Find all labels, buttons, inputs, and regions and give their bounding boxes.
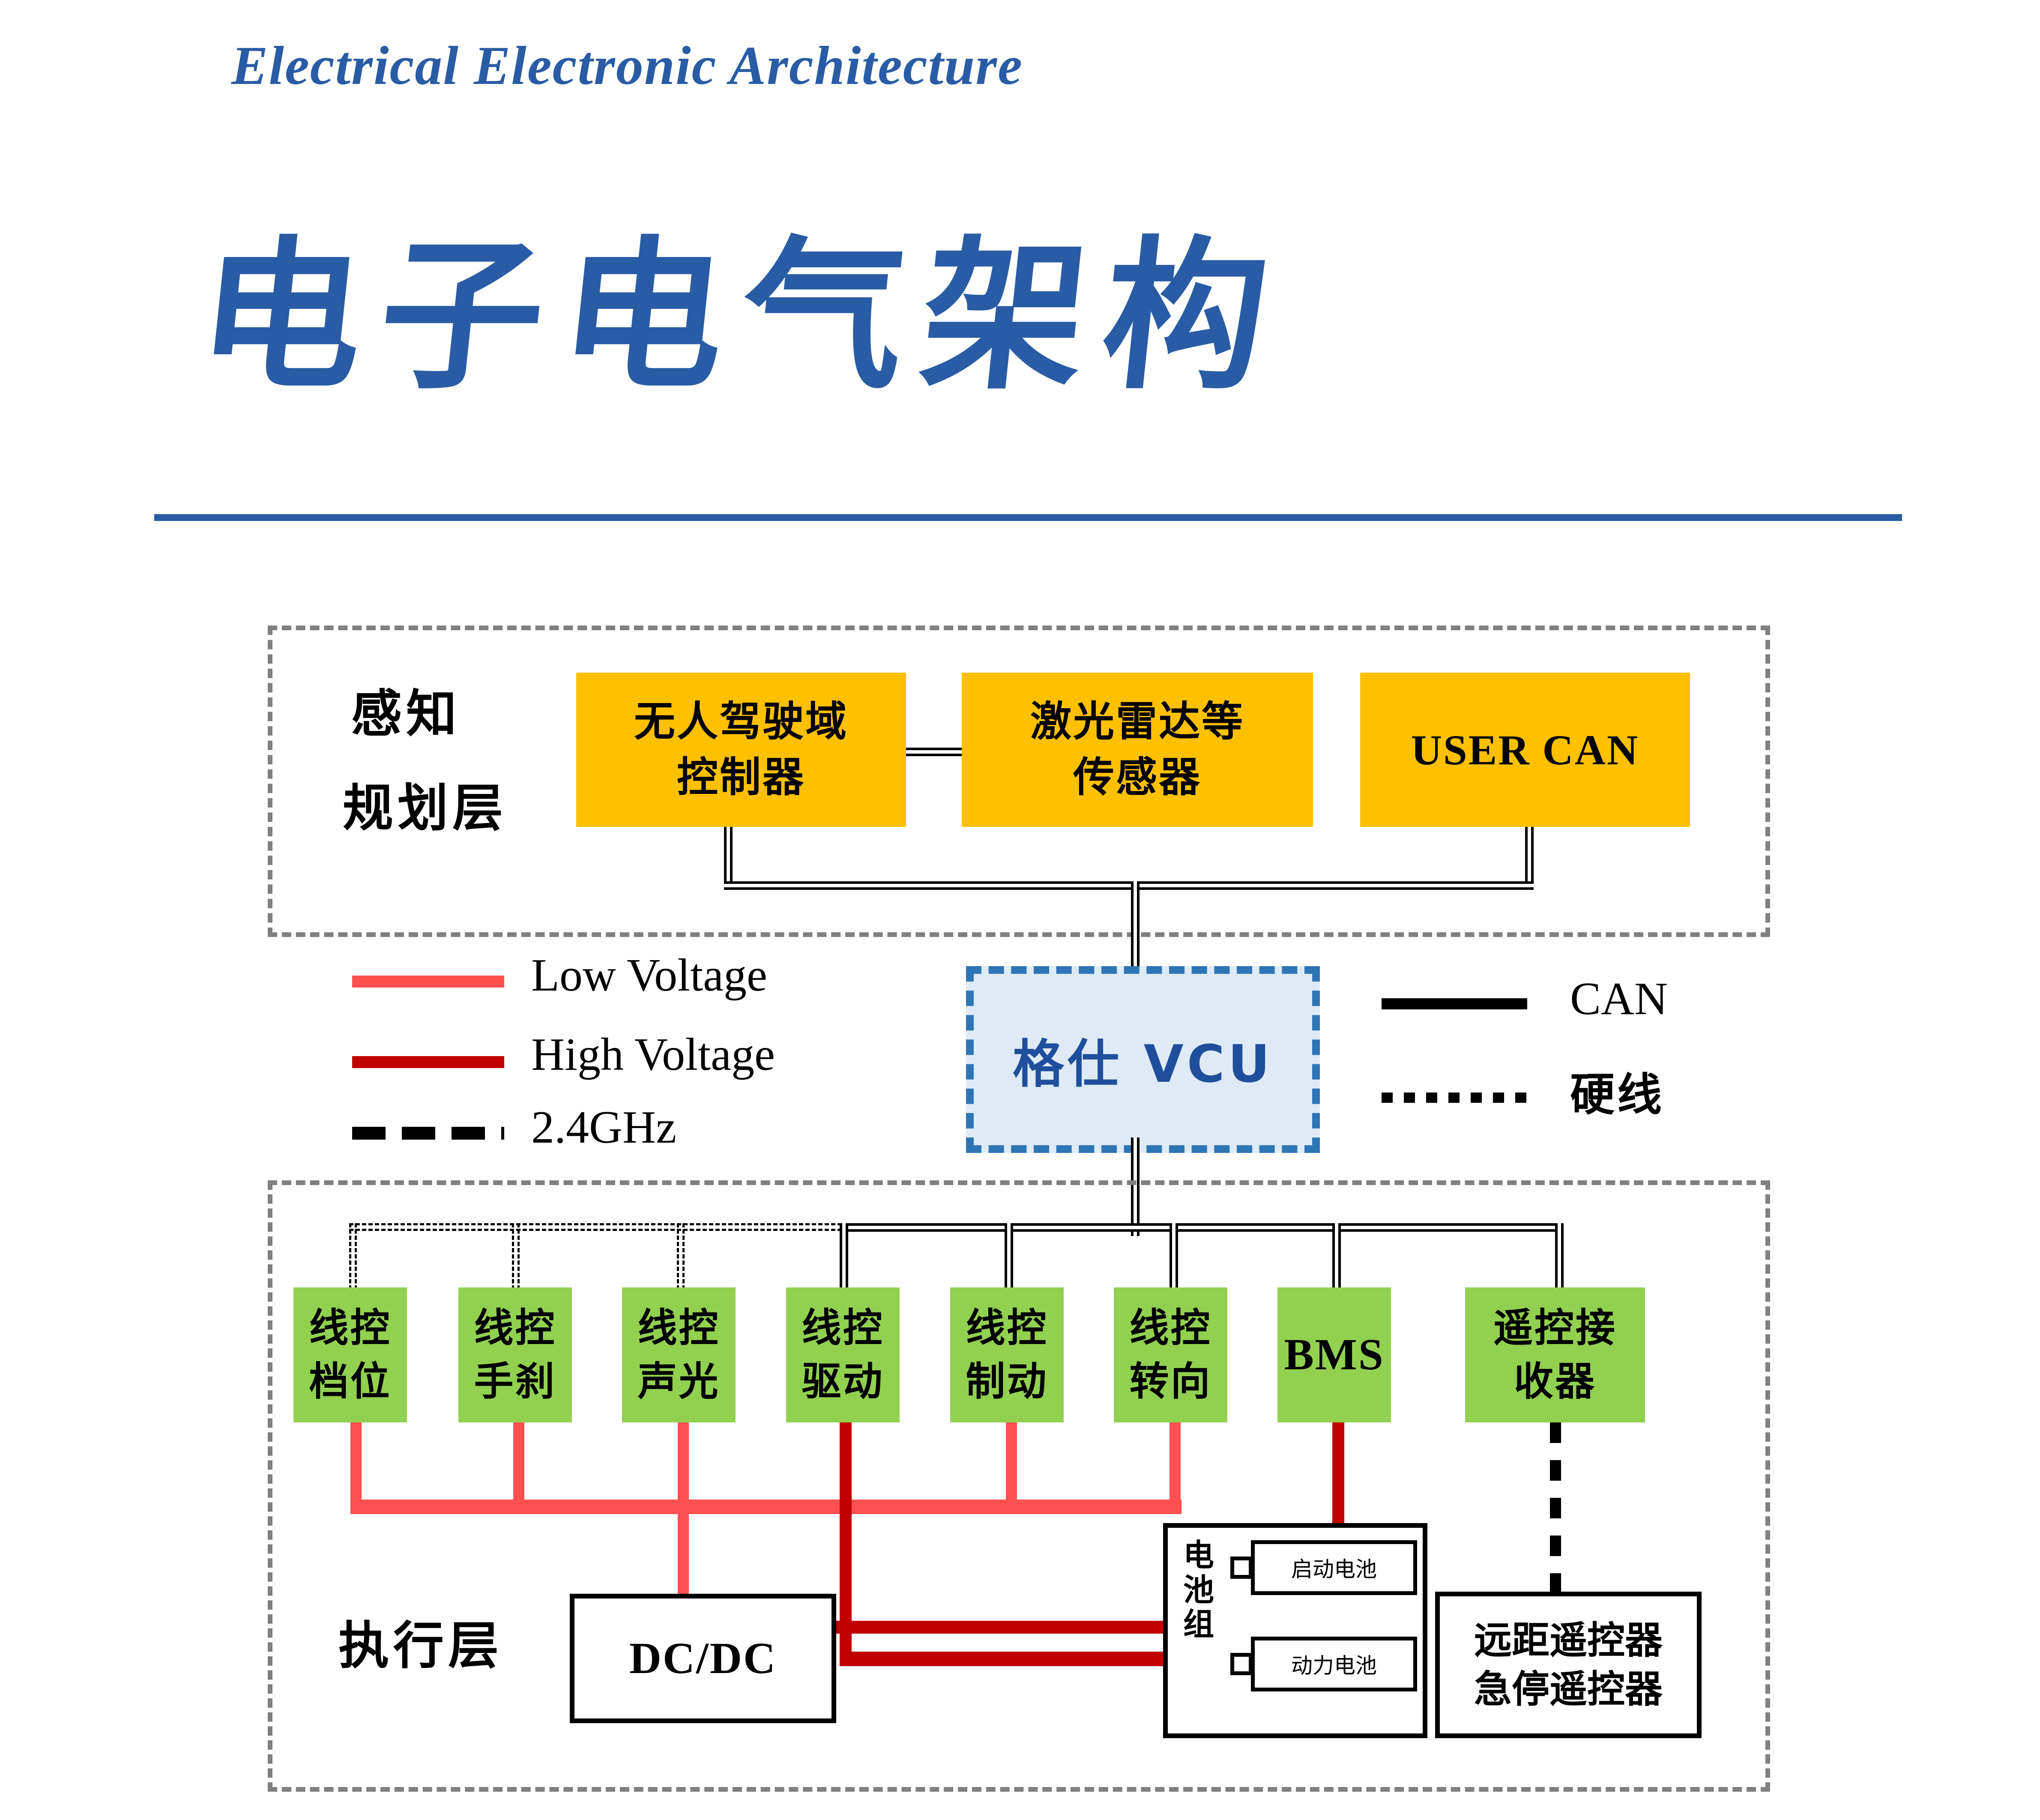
- lv-feed-dcdc: [678, 1500, 689, 1596]
- node-label-line2: 急停遥控器: [1474, 1665, 1663, 1714]
- node-label: DC/DC: [629, 1629, 777, 1687]
- lv-drop-parking-brake: [513, 1422, 524, 1510]
- perception-layer-label-line2: 规划层: [343, 767, 507, 840]
- can-drop-user-can: [1525, 827, 1534, 887]
- node-label-line2: 手刹: [474, 1355, 556, 1408]
- node-autonomous-driving-domain-controller[interactable]: 无人驾驶域 控制器: [576, 673, 906, 827]
- can-drop-bms: [1332, 1223, 1341, 1290]
- node-vcu[interactable]: 格仕 VCU: [966, 966, 1320, 1153]
- node-label-line2: 驱动: [802, 1355, 884, 1408]
- battery-cell-label: 启动电池: [1291, 1552, 1377, 1583]
- node-label-line1: 线控: [309, 1302, 391, 1355]
- node-label-line2: 声光: [637, 1355, 720, 1408]
- execution-layer-label: 执行层: [338, 1604, 503, 1678]
- rf-link-remote: [1550, 1422, 1561, 1592]
- node-label-line2: 转向: [1129, 1355, 1211, 1408]
- battery-connector-icon: [1230, 1557, 1253, 1579]
- can-drop-controller: [724, 827, 733, 887]
- node-label-line1: 线控: [637, 1302, 720, 1355]
- battery-cell-starter[interactable]: 启动电池: [1251, 1540, 1417, 1595]
- legend-label-high-voltage: High Voltage: [531, 1028, 775, 1081]
- node-label-line1: 线控: [474, 1302, 556, 1355]
- hardwire-drop-parking-brake: [512, 1223, 520, 1290]
- node-wire-control-drive[interactable]: 线控 驱动: [786, 1287, 900, 1422]
- node-label-line1: 线控: [802, 1302, 884, 1355]
- can-drop-steering: [1170, 1223, 1178, 1290]
- node-user-can[interactable]: USER CAN: [1360, 673, 1690, 827]
- english-title: Electrical Electronic Architecture: [231, 34, 1023, 97]
- hv-bus-drive-to-battery: [840, 1652, 1170, 1666]
- node-label-line2: 制动: [966, 1355, 1048, 1408]
- node-wire-control-light-sound[interactable]: 线控 声光: [622, 1287, 736, 1422]
- legend-swatch-low-voltage: [352, 976, 504, 988]
- can-trunk-to-vcu: [1131, 881, 1140, 967]
- node-wire-control-parking-brake[interactable]: 线控 手刹: [458, 1287, 572, 1422]
- can-drop-remote-receiver: [1555, 1223, 1564, 1290]
- battery-cell-label: 动力电池: [1291, 1649, 1377, 1679]
- lv-drop-brake: [1006, 1422, 1017, 1510]
- node-label-line1: 激光雷达等: [1030, 694, 1244, 750]
- node-dcdc[interactable]: DC/DC: [570, 1594, 836, 1723]
- battery-cell-traction[interactable]: 动力电池: [1251, 1637, 1417, 1691]
- page-title: 电子电气架构: [189, 184, 1298, 420]
- node-wire-control-steering[interactable]: 线控 转向: [1114, 1287, 1227, 1422]
- node-label-line1: 线控: [1129, 1302, 1211, 1355]
- can-bus-actuators: [840, 1223, 1564, 1232]
- legend-swatch-hardwire: [1382, 1093, 1527, 1103]
- legend-swatch-24ghz: [352, 1127, 504, 1140]
- legend-label-hardwire: 硬线: [1570, 1058, 1664, 1123]
- node-remote-receiver[interactable]: 遥控接 收器: [1465, 1287, 1645, 1422]
- node-wire-control-brake[interactable]: 线控 制动: [950, 1287, 1064, 1422]
- lv-drop-steering: [1170, 1422, 1181, 1510]
- vcu-label: 格仕 VCU: [1013, 1022, 1273, 1097]
- can-link-controller-to-sensors: [906, 748, 962, 756]
- legend-swatch-high-voltage: [352, 1056, 504, 1068]
- node-remote-controllers[interactable]: 远距遥控器 急停遥控器: [1435, 1592, 1702, 1738]
- hv-link-dcdc-to-battery: [827, 1621, 1165, 1634]
- node-label-line2: 传感器: [1073, 750, 1202, 805]
- node-label-line1: 远距遥控器: [1474, 1616, 1663, 1665]
- legend-label-can: CAN: [1570, 973, 1668, 1026]
- battery-group-label: 电池组: [1180, 1538, 1217, 1642]
- header-divider: [154, 514, 1902, 521]
- lv-drop-light-sound: [678, 1422, 689, 1510]
- node-label-line1: 线控: [966, 1302, 1048, 1355]
- node-label-line2: 控制器: [677, 750, 805, 805]
- lv-bus: [350, 1500, 1182, 1514]
- hardwire-drop-gear: [349, 1223, 357, 1290]
- node-label-line2: 收器: [1514, 1355, 1596, 1408]
- node-label-line1: 无人驾驶域: [634, 694, 848, 750]
- node-bms[interactable]: BMS: [1277, 1287, 1391, 1422]
- hardwire-bus-actuators: [349, 1223, 842, 1231]
- can-bus-perception: [724, 881, 1534, 890]
- node-label-line2: 档位: [309, 1355, 391, 1408]
- hardwire-drop-light-sound: [677, 1223, 685, 1290]
- legend-label-low-voltage: Low Voltage: [531, 949, 767, 1002]
- lv-drop-gear: [350, 1422, 362, 1510]
- can-drop-brake: [1005, 1223, 1013, 1290]
- hv-drop-bms: [1332, 1422, 1344, 1525]
- perception-layer-label-line1: 感知: [351, 673, 461, 746]
- legend-label-24ghz: 2.4GHz: [531, 1101, 676, 1154]
- node-label-line1: 遥控接: [1493, 1302, 1617, 1355]
- node-wire-control-gear[interactable]: 线控 档位: [293, 1287, 407, 1422]
- node-label-line1: BMS: [1284, 1325, 1384, 1385]
- legend-swatch-can: [1382, 998, 1527, 1009]
- node-lidar-sensors[interactable]: 激光雷达等 传感器: [962, 673, 1313, 827]
- node-label-line1: USER CAN: [1411, 721, 1639, 779]
- can-drop-drive: [840, 1223, 848, 1290]
- battery-connector-icon: [1230, 1653, 1253, 1675]
